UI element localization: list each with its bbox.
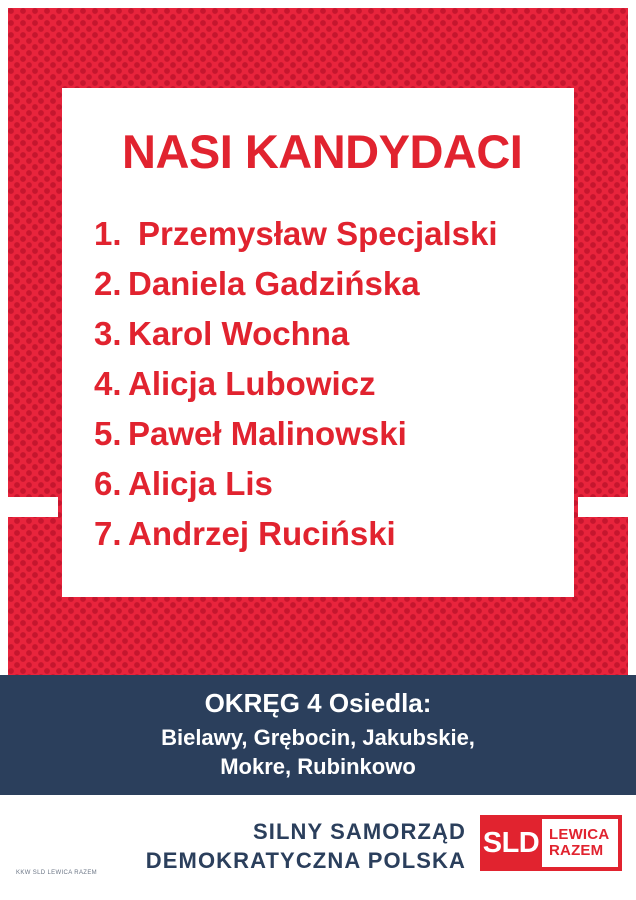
logo-razem-text: RAZEM — [549, 843, 603, 860]
candidate-number: 1. — [94, 217, 138, 250]
district-heading: OKRĘG 4 Osiedla: — [205, 689, 432, 719]
poster-footer: SILNY SAMORZĄD DEMOKRATYCZNA POLSKA SLD … — [0, 795, 636, 900]
district-neighbourhoods-line-1: Bielawy, Grębocin, Jakubskie, — [161, 723, 475, 752]
candidate-number: 4. — [94, 367, 128, 400]
candidate-name: Andrzej Ruciński — [128, 517, 396, 550]
candidate-name: Alicja Lubowicz — [128, 367, 376, 400]
candidate-name: Karol Wochna — [128, 317, 349, 350]
candidate-list: 1. Przemysław Specjalski 2. Daniela Gadz… — [94, 217, 548, 550]
left-edge-notch — [0, 497, 58, 517]
list-item: 3. Karol Wochna — [94, 317, 548, 350]
candidate-number: 6. — [94, 467, 128, 500]
candidates-card: NASI KANDYDACI 1. Przemysław Specjalski … — [62, 88, 574, 597]
page-title: NASI KANDYDACI — [122, 128, 548, 175]
slogan-line-1: SILNY SAMORZĄD — [146, 817, 466, 846]
candidate-number: 2. — [94, 267, 128, 300]
sld-lewica-razem-logo: SLD LEWICA RAZEM — [480, 815, 622, 871]
list-item: 1. Przemysław Specjalski — [94, 217, 548, 250]
slogan-line-2: DEMOKRATYCZNA POLSKA — [146, 846, 466, 875]
campaign-poster: NASI KANDYDACI 1. Przemysław Specjalski … — [0, 0, 636, 900]
district-neighbourhoods-line-2: Mokre, Rubinkowo — [220, 752, 416, 781]
candidate-number: 3. — [94, 317, 128, 350]
candidate-name: Paweł Malinowski — [128, 417, 407, 450]
candidate-name: Przemysław Specjalski — [138, 217, 498, 250]
list-item: 6. Alicja Lis — [94, 467, 548, 500]
candidate-name: Daniela Gadzińska — [128, 267, 420, 300]
candidate-number: 7. — [94, 517, 128, 550]
logo-sld-text: SLD — [480, 815, 542, 871]
candidate-number: 5. — [94, 417, 128, 450]
list-item: 4. Alicja Lubowicz — [94, 367, 548, 400]
campaign-slogan: SILNY SAMORZĄD DEMOKRATYCZNA POLSKA — [146, 817, 466, 875]
right-edge-notch — [578, 497, 636, 517]
electoral-committee-disclaimer: KKW SLD LEWICA RAZEM — [16, 870, 97, 876]
list-item: 7. Andrzej Ruciński — [94, 517, 548, 550]
list-item: 5. Paweł Malinowski — [94, 417, 548, 450]
logo-lewica-text: LEWICA — [549, 827, 609, 844]
list-item: 2. Daniela Gadzińska — [94, 267, 548, 300]
district-band: OKRĘG 4 Osiedla: Bielawy, Grębocin, Jaku… — [0, 675, 636, 795]
logo-lewica-razem-block: LEWICA RAZEM — [542, 819, 618, 867]
candidate-name: Alicja Lis — [128, 467, 273, 500]
